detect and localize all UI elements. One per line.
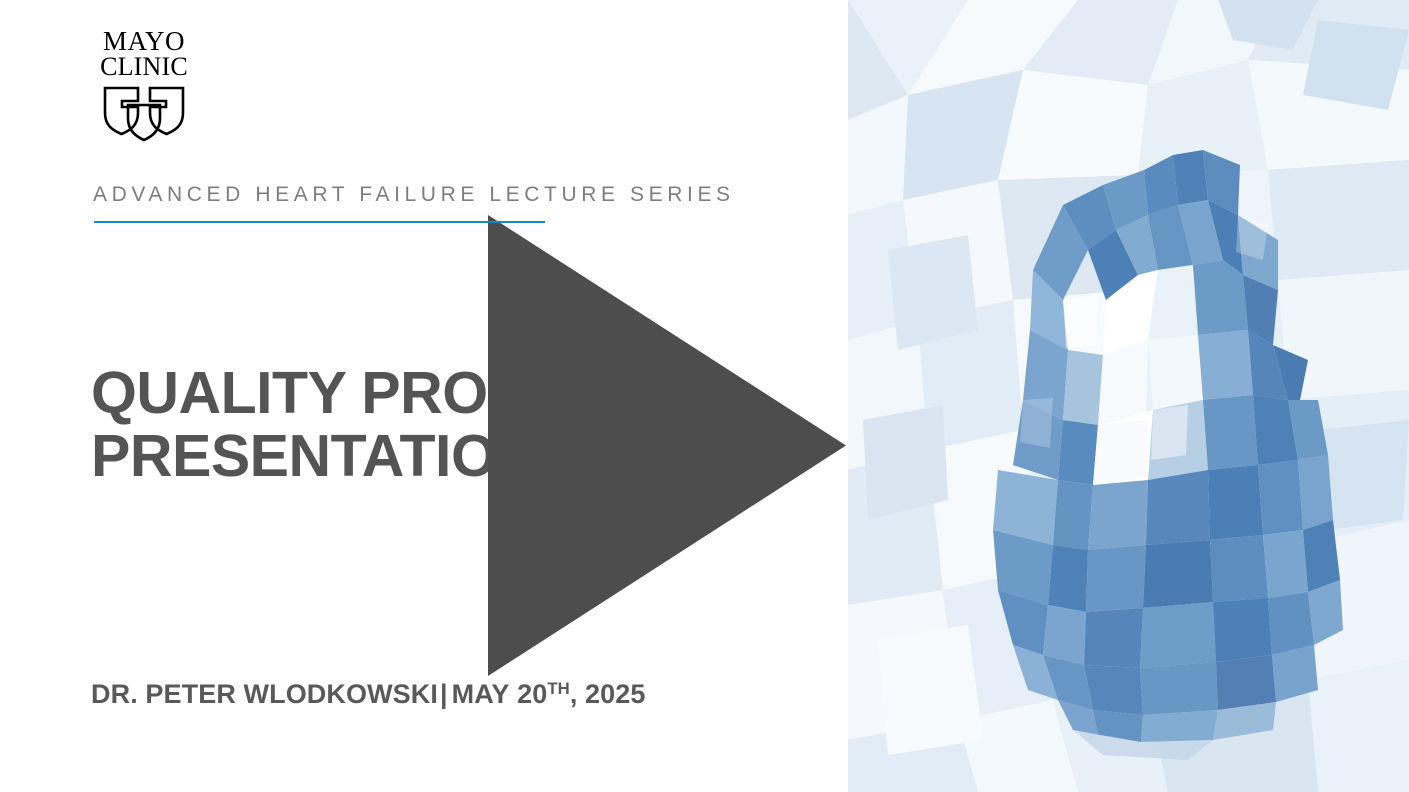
lecture-series-eyebrow: ADVANCED HEART FAILURE LECTURE SERIES [93,183,735,207]
mayo-clinic-wordmark: MAYO CLINIC [92,28,196,80]
byline-separator: | [438,679,452,709]
page-title: QUALITY PROJECT PRESENTATION [91,362,636,488]
title-line-2: PRESENTATION [91,425,636,488]
mayo-clinic-logo: MAYO CLINIC [92,28,196,142]
presenter-name: DR. PETER WLODKOWSKI [91,679,438,709]
hero-heart-image [848,0,1409,792]
logo-word-clinic: CLINIC [92,54,196,79]
byline-day: 20 [517,679,547,709]
byline-year: , 2025 [570,679,646,709]
three-shields-icon [102,85,186,142]
accent-underline [94,221,545,223]
content-panel: MAYO CLINIC ADVANCED HEART FAILURE LECTU… [0,0,848,792]
presenter-byline: DR. PETER WLODKOWSKI|MAY 20TH, 2025 [91,679,646,710]
title-line-1: QUALITY PROJECT [91,362,636,425]
byline-day-suffix: TH [547,679,570,698]
low-poly-heart-illustration [848,0,1409,792]
byline-month: MAY [452,679,510,709]
logo-word-mayo: MAYO [92,28,196,54]
title-slide: MAYO CLINIC ADVANCED HEART FAILURE LECTU… [0,0,1409,792]
